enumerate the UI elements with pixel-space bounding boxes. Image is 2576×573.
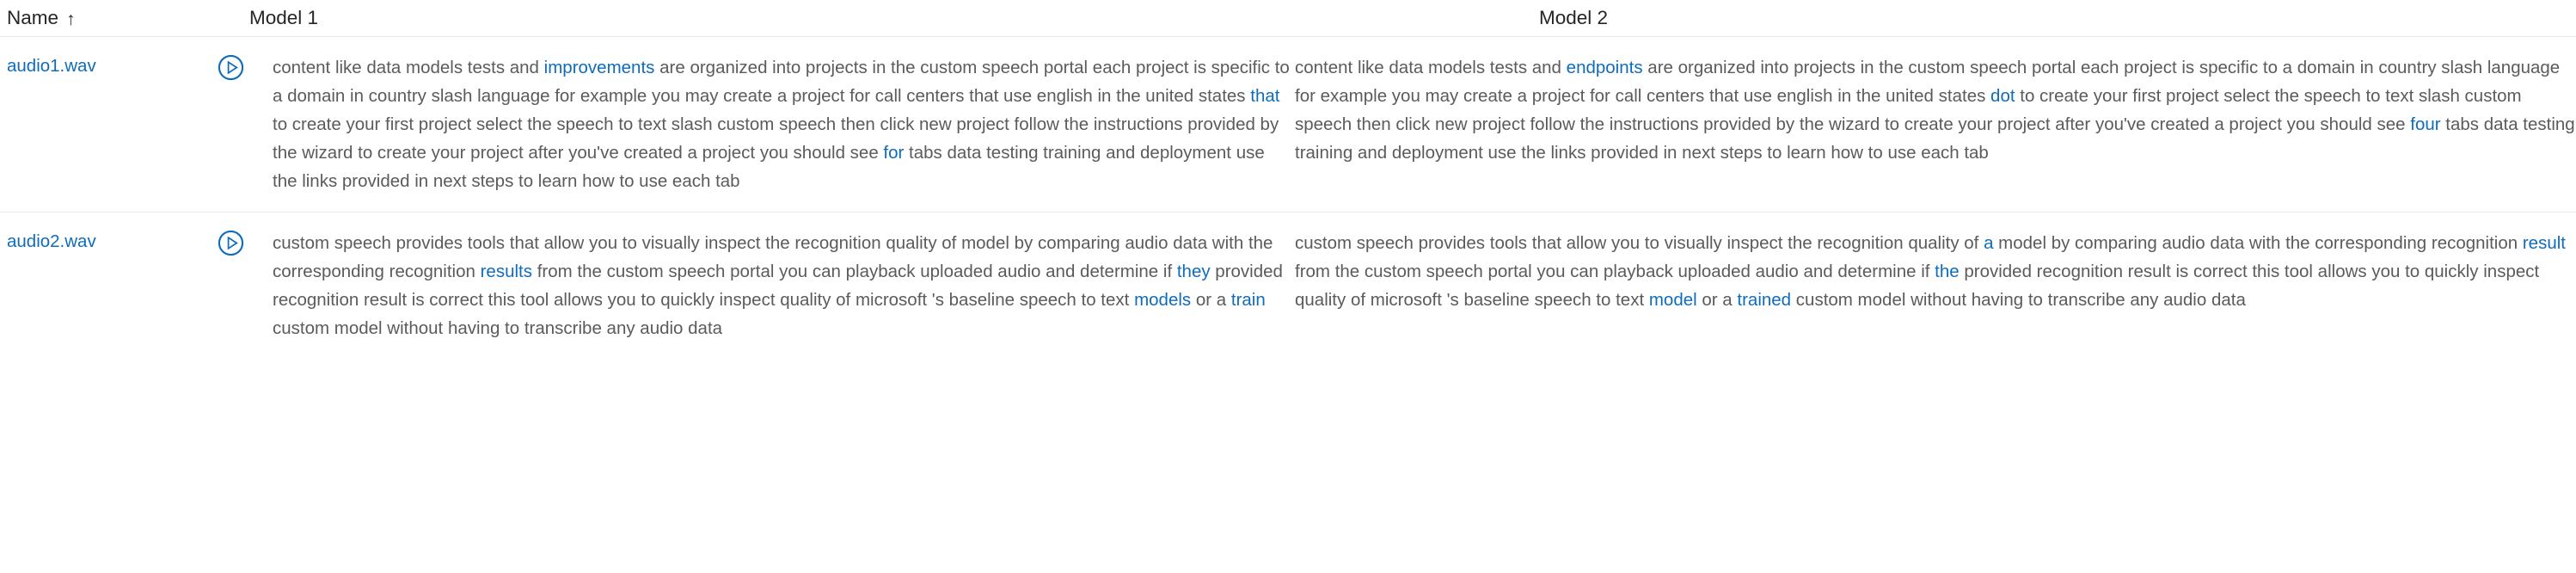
table-row: audio1.wavcontent like data models tests…: [0, 37, 2576, 212]
column-header-model1[interactable]: Model 1: [245, 8, 1535, 29]
highlighted-word: trained: [1737, 290, 1791, 310]
transcript-text: content like data models tests and: [273, 58, 544, 77]
transcript-text: or a: [1191, 290, 1231, 310]
highlighted-word: that: [1250, 86, 1279, 106]
cell-model2-transcript: custom speech provides tools that allow …: [1290, 229, 2576, 314]
cell-file-name: audio1.wav: [0, 53, 218, 77]
audio-file-link[interactable]: audio1.wav: [7, 56, 96, 76]
cell-play-control[interactable]: [218, 53, 245, 81]
transcript-text: from the custom speech portal you can pl…: [532, 262, 1177, 281]
highlighted-word: train: [1231, 290, 1266, 310]
cell-file-name: audio2.wav: [0, 229, 218, 252]
column-header-name-label: Name: [7, 8, 58, 29]
column-header-model2[interactable]: Model 2: [1535, 8, 2576, 29]
table-body: audio1.wavcontent like data models tests…: [0, 37, 2576, 359]
highlighted-word: result: [2523, 233, 2566, 253]
cell-model1-transcript: content like data models tests and impro…: [245, 53, 1290, 195]
table-row: audio2.wavcustom speech provides tools t…: [0, 212, 2576, 359]
highlighted-word: endpoints: [1567, 58, 1643, 77]
play-circle-icon[interactable]: [218, 230, 244, 256]
highlighted-word: model: [1649, 290, 1697, 310]
highlighted-word: a: [1984, 233, 1993, 253]
column-header-name[interactable]: Name ↑: [0, 8, 245, 29]
audio-file-link[interactable]: audio2.wav: [7, 231, 96, 251]
table-header-row: Name ↑ Model 1 Model 2: [0, 0, 2576, 37]
cell-model2-transcript: content like data models tests and endpo…: [1290, 53, 2576, 167]
highlighted-word: improvements: [544, 58, 655, 77]
cell-model1-transcript: custom speech provides tools that allow …: [245, 229, 1290, 342]
transcript-text: custom model without having to transcrib…: [273, 318, 722, 338]
transcript-text: custom speech provides tools that allow …: [1295, 233, 1984, 253]
highlighted-word: the: [1935, 262, 1960, 281]
transcript-text: or a: [1697, 290, 1738, 310]
sort-ascending-icon: ↑: [66, 10, 76, 28]
highlighted-word: for: [883, 143, 904, 163]
highlighted-word: models: [1134, 290, 1191, 310]
highlighted-word: dot: [1990, 86, 2015, 106]
highlighted-word: four: [2410, 114, 2440, 134]
cell-play-control[interactable]: [218, 229, 245, 256]
play-circle-icon[interactable]: [218, 54, 244, 81]
transcript-text: custom model without having to transcrib…: [1791, 290, 2246, 310]
transcription-comparison-table: Name ↑ Model 1 Model 2 audio1.wavcontent…: [0, 0, 2576, 573]
transcript-text: model by comparing audio data with the c…: [1993, 233, 2522, 253]
highlighted-word: results: [481, 262, 532, 281]
transcript-text: content like data models tests and: [1295, 58, 1567, 77]
transcript-text: from the custom speech portal you can pl…: [1295, 262, 1935, 281]
highlighted-word: they: [1177, 262, 1211, 281]
